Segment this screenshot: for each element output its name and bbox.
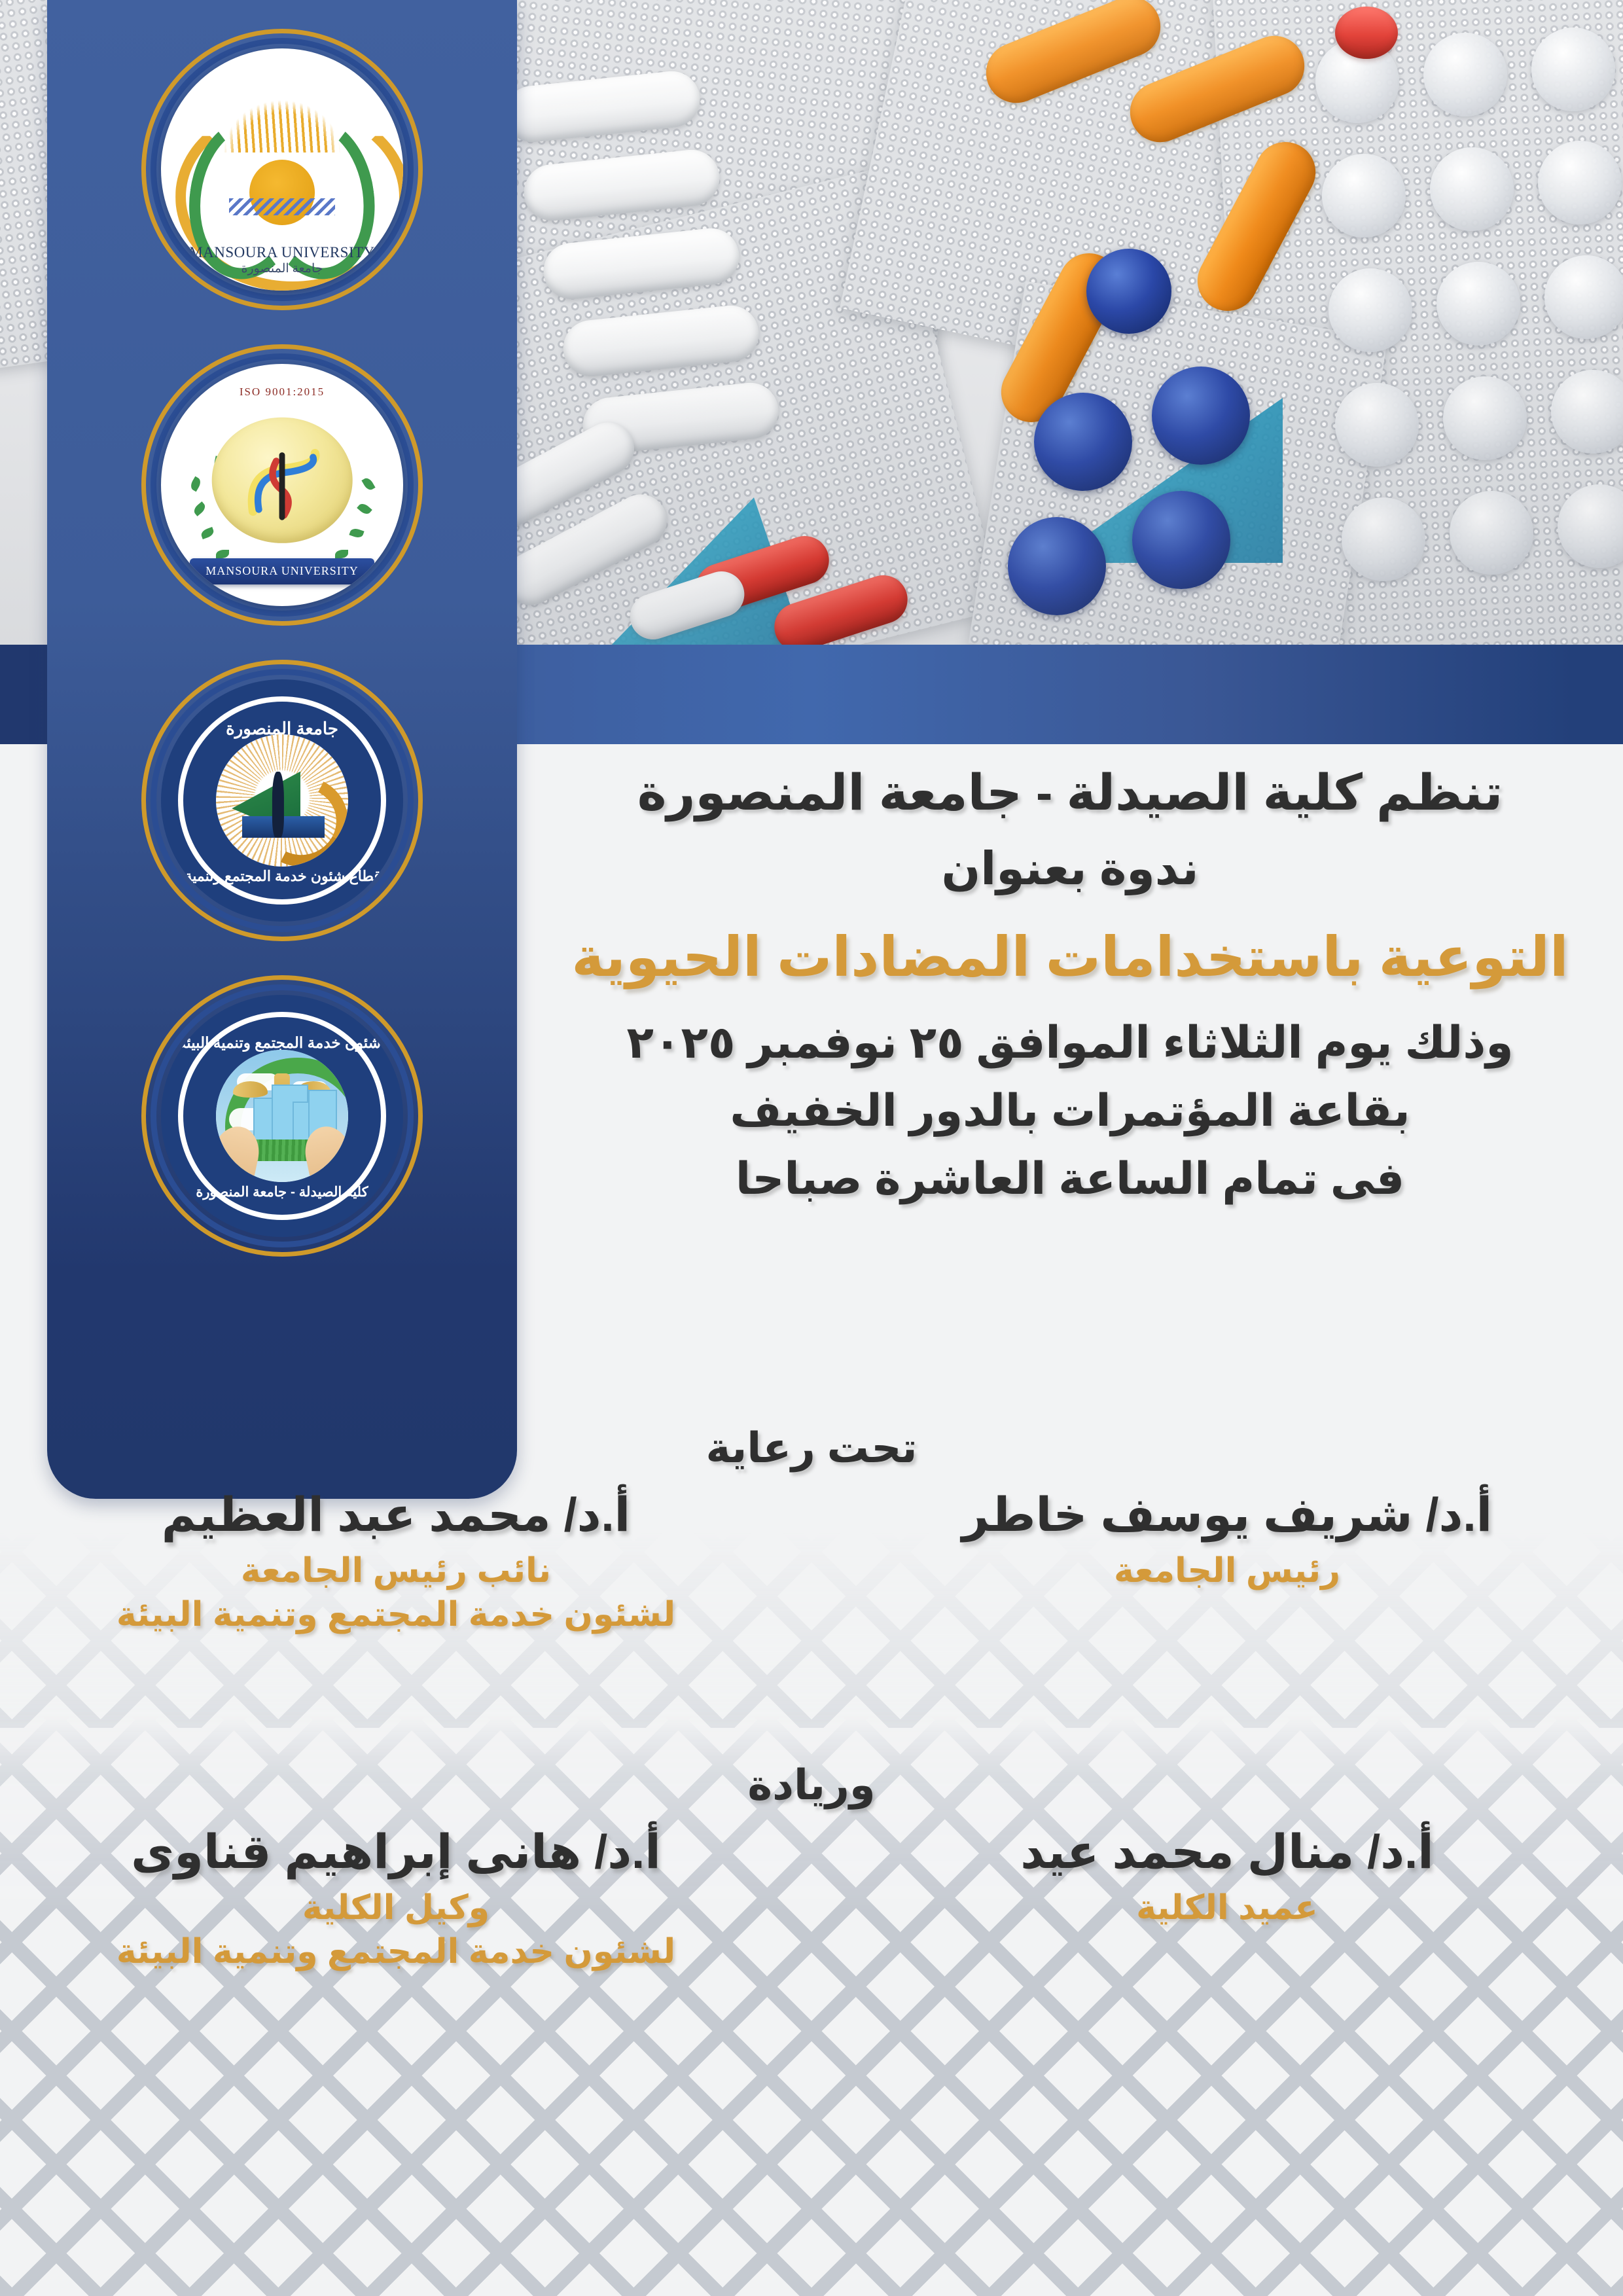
person-role-line2: لشئون خدمة المجتمع وتنمية البيئة: [26, 1594, 766, 1636]
snake-icon: [234, 432, 330, 533]
seal-arc-top: شئون خدمة المجتمع وتنمية البيئة: [183, 1034, 381, 1052]
person-name: أ.د/ محمد عبد العظيم: [26, 1487, 766, 1543]
logo-faculty-of-pharmacy: ISO 9001:2015: [141, 344, 423, 626]
subtitle-line: ندوة بعنوان: [517, 837, 1623, 901]
person-role: وكيل الكلية: [26, 1887, 766, 1929]
seal-navy-ring: شئون خدمة المجتمع وتنمية البيئة كلية الص…: [161, 995, 403, 1237]
person-role-line2: لشئون خدمة المجتمع وتنمية البيئة: [26, 1931, 766, 1973]
event-time: فى تمام الساعة العاشرة صباحا: [517, 1149, 1623, 1210]
person-role: نائب رئيس الجامعة: [26, 1550, 766, 1592]
person-name: أ.د/ شريف يوسف خاطر: [857, 1487, 1597, 1543]
seal-core-art: [216, 734, 348, 867]
logo-caption-en: MANSOURA UNIVERSITY: [189, 244, 375, 260]
patronage-row: أ.د/ شريف يوسف خاطر رئيس الجامعة أ.د/ مح…: [0, 1487, 1623, 1636]
seal-arc-bottom: قطاع شئون خدمة المجتمع وتنمية البيئة: [183, 868, 381, 885]
event-venue: بقاعة المؤتمرات بالدور الخفيف: [517, 1081, 1623, 1142]
wing-icon: [233, 1081, 268, 1097]
logo-mansoura-university-crest: MANSOURA UNIVERSITY جامعة المنصورة: [141, 29, 423, 310]
event-date: وذلك يوم الثلاثاء الموافق ٢٥ نوفمبر ٢٠٢٥: [517, 1013, 1623, 1074]
logo-sidebar: MANSOURA UNIVERSITY جامعة المنصورة ISO 9…: [47, 0, 517, 1499]
seminar-poster: MANSOURA UNIVERSITY جامعة المنصورة ISO 9…: [0, 0, 1623, 2296]
iso-label: ISO 9001:2015: [240, 386, 325, 399]
patronage-heading: تحت رعاية: [0, 1424, 1623, 1473]
logo-community-service-sector: جامعة المنصورة قطاع شئون خدمة المجتمع وت…: [141, 660, 423, 941]
seal-arc-bottom: كلية الصيدلة - جامعة المنصورة: [183, 1184, 381, 1200]
water-icon: [229, 198, 336, 215]
university-banner: MANSOURA UNIVERSITY: [190, 558, 374, 584]
logo-caption: MANSOURA UNIVERSITY جامعة المنصورة: [161, 244, 403, 276]
leadership-section: وريادة أ.د/ منال محمد عيد عميد الكلية أ.…: [0, 1761, 1623, 1973]
seal-core-art: [216, 1050, 348, 1182]
logo-caption-ar: جامعة المنصورة: [161, 261, 403, 276]
human-figure-icon: [272, 772, 284, 838]
patron-person: أ.د/ شريف يوسف خاطر رئيس الجامعة: [857, 1487, 1597, 1594]
person-name: أ.د/ منال محمد عيد: [857, 1824, 1597, 1880]
patron-person: أ.د/ محمد عبد العظيم نائب رئيس الجامعة ل…: [26, 1487, 766, 1636]
seal-navy-ring: جامعة المنصورة قطاع شئون خدمة المجتمع وت…: [161, 679, 403, 922]
person-role: رئيس الجامعة: [857, 1550, 1597, 1592]
event-title: التوعية باستخدامات المضادات الحيوية: [517, 920, 1623, 996]
leadership-heading: وريادة: [0, 1761, 1623, 1810]
leader-person: أ.د/ منال محمد عيد عميد الكلية: [857, 1824, 1597, 1931]
leadership-row: أ.د/ منال محمد عيد عميد الكلية أ.د/ هانى…: [0, 1824, 1623, 1973]
person-role: عميد الكلية: [857, 1887, 1597, 1929]
organizer-line: تنظم كلية الصيدلة - جامعة المنصورة: [517, 759, 1623, 828]
logo-disc: MANSOURA UNIVERSITY جامعة المنصورة: [161, 48, 403, 291]
logo-pharmacy-community-service: شئون خدمة المجتمع وتنمية البيئة كلية الص…: [141, 975, 423, 1257]
person-name: أ.د/ هانى إبراهيم قناوى: [26, 1824, 766, 1880]
event-details: تنظم كلية الصيدلة - جامعة المنصورة ندوة …: [517, 759, 1623, 1210]
leader-person: أ.د/ هانى إبراهيم قناوى وكيل الكلية لشئو…: [26, 1824, 766, 1973]
logo-disc: ISO 9001:2015: [161, 364, 403, 606]
patronage-section: تحت رعاية أ.د/ شريف يوسف خاطر رئيس الجام…: [0, 1424, 1623, 1636]
